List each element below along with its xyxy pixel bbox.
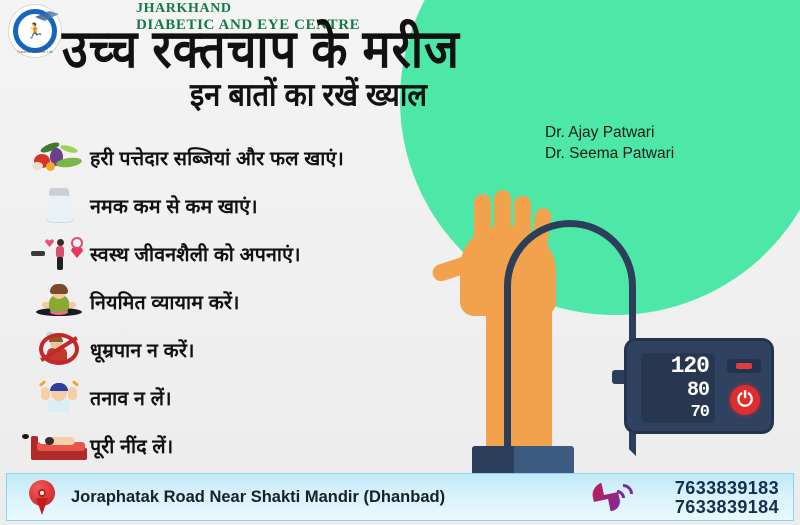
power-button[interactable]: ⏻ bbox=[730, 385, 760, 415]
page-subtitle: इन बातों का रखें ख्याल bbox=[190, 80, 427, 112]
yoga-exercise-icon bbox=[28, 279, 90, 323]
bp-measurement-illustration: 120 80 70 ⏻ bbox=[432, 188, 692, 480]
tip-text: पूरी नींद लें। bbox=[90, 432, 173, 459]
pulse-value: 70 bbox=[671, 404, 709, 421]
doctor-name-1: Dr. Ajay Patwari bbox=[545, 122, 674, 143]
list-item: नमक कम से कम खाएं। bbox=[28, 181, 448, 229]
stress-icon bbox=[28, 375, 90, 419]
poster-canvas: 🏃 Towards a Sweet Life JHARKHAND DIABETI… bbox=[0, 0, 800, 525]
tip-text: हरी पत्तेदार सब्जियां और फल खाएं। bbox=[90, 144, 344, 171]
status-led-indicator bbox=[727, 359, 761, 373]
phone-number-2[interactable]: 7633839184 bbox=[675, 498, 779, 517]
sleeping-bed-icon bbox=[28, 423, 90, 467]
vegetables-icon bbox=[28, 135, 90, 179]
list-item: तनाव न लें। bbox=[28, 373, 448, 421]
map-pin-icon bbox=[29, 480, 55, 516]
no-smoking-icon bbox=[28, 327, 90, 371]
bullet-dot bbox=[22, 434, 29, 439]
tip-text: नमक कम से कम खाएं। bbox=[90, 192, 258, 219]
systolic-value: 120 bbox=[671, 355, 709, 378]
clinic-address: Joraphatak Road Near Shakti Mandir (Dhan… bbox=[71, 488, 445, 507]
phone-number-1[interactable]: 7633839183 bbox=[675, 479, 779, 498]
bp-monitor: 120 80 70 ⏻ bbox=[624, 338, 774, 434]
list-item: पूरी नींद लें। bbox=[28, 421, 448, 469]
salt-shaker-icon bbox=[28, 183, 90, 227]
logo-tagline: Towards a Sweet Life bbox=[9, 50, 61, 54]
monitor-screen: 120 80 70 bbox=[641, 353, 715, 423]
tip-text: तनाव न लें। bbox=[90, 384, 172, 411]
list-item: धूम्रपान न करें। bbox=[28, 325, 448, 373]
diastolic-value: 80 bbox=[671, 381, 709, 401]
doctor-name-2: Dr. Seema Patwari bbox=[545, 143, 674, 164]
list-item: हरी पत्तेदार सब्जियां और फल खाएं। bbox=[28, 133, 448, 181]
monitor-readout: 120 80 70 bbox=[671, 355, 709, 421]
list-item: स्वस्थ जीवनशैली को अपनाएं। bbox=[28, 229, 448, 277]
page-title: उच्च रक्तचाप के मरीज bbox=[62, 22, 460, 75]
tip-text: धूम्रपान न करें। bbox=[90, 336, 195, 363]
cuff-tube bbox=[504, 220, 636, 456]
clinic-logo: 🏃 Towards a Sweet Life bbox=[8, 4, 62, 58]
power-icon: ⏻ bbox=[737, 390, 753, 410]
tips-list: हरी पत्तेदार सब्जियां और फल खाएं। नमक कम… bbox=[28, 133, 448, 469]
tip-text: स्वस्थ जीवनशैली को अपनाएं। bbox=[90, 240, 301, 267]
footer-contact-bar: Joraphatak Road Near Shakti Mandir (Dhan… bbox=[6, 473, 794, 521]
clinic-name-line1: JHARKHAND bbox=[136, 1, 232, 17]
runner-icon: 🏃 bbox=[26, 24, 45, 39]
tip-text: नियमित व्यायाम करें। bbox=[90, 288, 240, 315]
phone-numbers: 7633839183 7633839184 bbox=[675, 479, 779, 517]
healthy-lifestyle-icon bbox=[28, 231, 90, 275]
phone-icon bbox=[593, 480, 633, 516]
doctor-names: Dr. Ajay Patwari Dr. Seema Patwari bbox=[545, 122, 674, 164]
list-item: नियमित व्यायाम करें। bbox=[28, 277, 448, 325]
